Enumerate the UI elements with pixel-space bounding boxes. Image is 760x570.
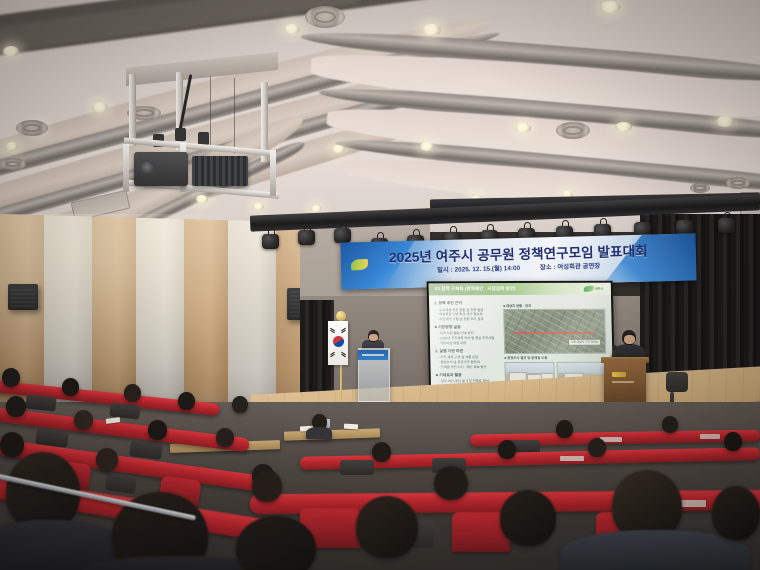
- air-diffuser: [0, 158, 26, 170]
- slide-logo-icon: 여주시: [584, 285, 606, 293]
- stage-chair: [666, 372, 688, 392]
- audience-head: [124, 384, 141, 402]
- projector-icon: [134, 152, 188, 186]
- ceiling-downlight: [615, 122, 632, 132]
- ceiling-downlight: [716, 116, 734, 127]
- audience-head: [62, 378, 79, 396]
- ceiling-downlight: [515, 123, 531, 133]
- audience-head: [356, 496, 418, 558]
- air-diffuser: [690, 183, 710, 193]
- slide-text-column: 1. 정책 추진 근거 - 도시재생 추진 현황 및 관련 법령 - 여성회관 …: [434, 298, 498, 394]
- wall-speaker: [8, 284, 38, 310]
- audience-head: [0, 432, 24, 457]
- banner-place: 장소 : 여성회관 공연장: [540, 263, 601, 272]
- slide-section-heading: 1. 정책 추진 근거: [434, 300, 496, 306]
- audience-head: [498, 440, 516, 459]
- audience-head: [556, 420, 573, 438]
- audience-head: [712, 486, 760, 540]
- audience-head: [372, 442, 391, 462]
- air-diffuser: [556, 122, 590, 139]
- audience-head: [662, 416, 678, 433]
- air-diffuser: [16, 120, 48, 136]
- slide-section-heading: ■ 기본방향 설정: [435, 324, 497, 330]
- audience-head: [434, 466, 468, 500]
- slide-bullet: - 기반시설 재정 지원: [438, 341, 497, 346]
- slide-header-bar: 03 정책 구체화 (정책제안 · 시정접목 방안) 여주시: [429, 283, 611, 296]
- slide-section-heading: 2. 실행 기반 마련: [435, 348, 497, 354]
- slide-bullet: - 주민의견 수렴 및 현황 조사 결과: [437, 317, 496, 322]
- banner-date: 일시 : 2025. 12. 15.(월) 14:00: [437, 265, 520, 274]
- ceiling-downlight: [422, 24, 441, 36]
- audience-head: [178, 392, 195, 410]
- slide-aerial-map: 사업 대상지 구간 500m: [503, 309, 606, 354]
- audience-head: [148, 420, 167, 440]
- audience-head: [96, 448, 118, 471]
- ceiling-downlight: [284, 24, 300, 34]
- audience-head: [232, 396, 248, 413]
- audience-head: [216, 428, 234, 447]
- audience-head: [74, 410, 93, 430]
- ceiling-downlight: [420, 142, 434, 151]
- ceiling-downlight: [253, 203, 264, 210]
- ceiling-downlight: [311, 205, 322, 212]
- audience-head: [6, 396, 26, 417]
- air-diffuser: [305, 6, 345, 28]
- audience-head: [724, 432, 742, 451]
- ceiling-downlight: [332, 145, 345, 153]
- slide-map-caption: ■ 대상지 현황 · 위치: [503, 303, 531, 308]
- audience-head: [500, 490, 556, 546]
- slide-header-title: 03 정책 구체화 (정책제안 · 시정접목 방안): [435, 286, 516, 292]
- ceiling-downlight: [600, 1, 621, 13]
- ceiling-downlight: [3, 46, 19, 57]
- auditorium-photo: 2025년 여주시 공무원 정책연구모임 발표대회 일시 : 2025. 12.…: [0, 0, 760, 570]
- audience-head: [588, 438, 606, 457]
- audience-head: [2, 368, 20, 387]
- slide-map-label: 사업 대상지 구간 500m: [568, 339, 602, 346]
- ceiling-projector-lift: [118, 60, 286, 200]
- slide-photo-caption: ■ 현장조사 결과 및 문제점 도출: [504, 355, 547, 360]
- ceiling-downlight: [6, 142, 18, 151]
- air-diffuser: [726, 177, 750, 189]
- ceiling-downlight: [92, 102, 108, 113]
- slide-bullet: - 단계별 추진 시기 · 예산 확보 방안: [439, 365, 498, 370]
- audience-head: [252, 470, 282, 502]
- slide-section-heading: ■ 기대효과 활용: [436, 372, 498, 378]
